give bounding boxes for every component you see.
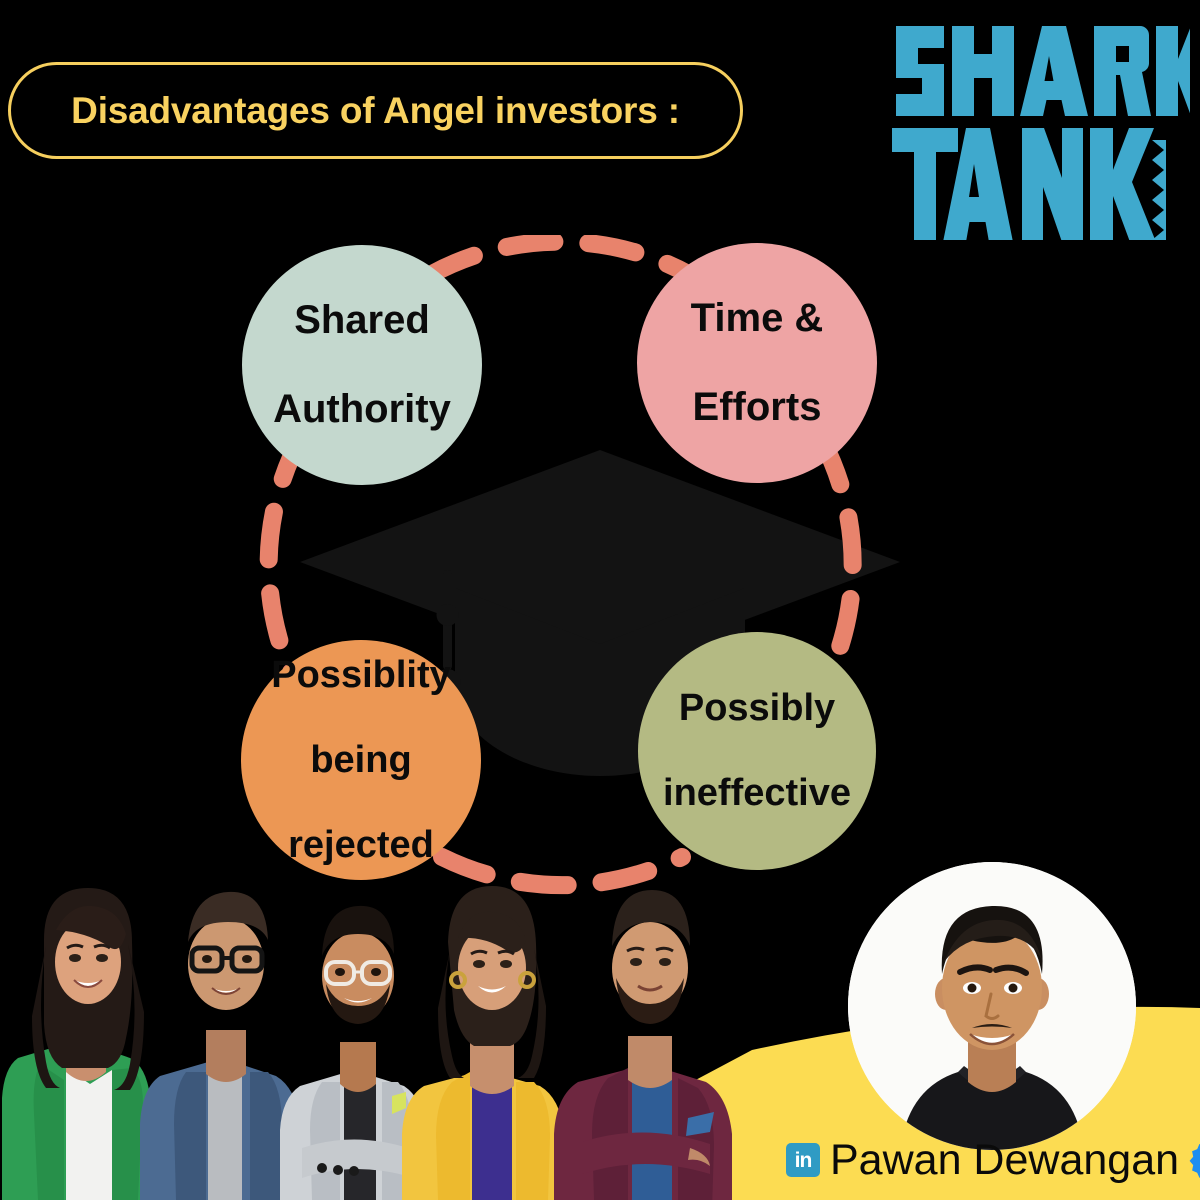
linkedin-mark: in: [795, 1150, 812, 1171]
bubble-line-2: ineffective: [622, 772, 892, 815]
author-profile-photo: [848, 862, 1136, 1150]
page-title: Disadvantages of Angel investors :: [71, 90, 680, 132]
bubble-line-2: Authority: [227, 387, 497, 432]
author-credit[interactable]: in Pawan Dewangan: [786, 1134, 1200, 1186]
bubble-possiblity-being-rejected[interactable]: Possiblitybeingrejected: [241, 640, 481, 880]
shark-tank-logo: [890, 8, 1190, 240]
bubble-time-efforts[interactable]: Time &Efforts: [637, 243, 877, 483]
title-pill: Disadvantages of Angel investors :: [8, 62, 743, 159]
shark-tank-judges-illustration: [0, 880, 800, 1200]
bubble-shared-authority[interactable]: SharedAuthority: [242, 245, 482, 485]
linkedin-icon[interactable]: in: [786, 1143, 820, 1177]
bubble-line-2: Efforts: [622, 385, 892, 430]
poster-canvas: Disadvantages of Angel investors :: [0, 0, 1200, 1200]
bubble-line-1: Time &: [622, 296, 892, 341]
bubble-line-1: Possibly: [622, 687, 892, 730]
bubble-label: Possiblitybeingrejected: [226, 654, 496, 867]
bubble-label: SharedAuthority: [227, 298, 497, 432]
verified-check-icon: [1189, 1140, 1200, 1180]
author-name: Pawan Dewangan: [830, 1136, 1179, 1185]
bubble-label: Possiblyineffective: [622, 687, 892, 815]
bubble-line-2: being: [226, 739, 496, 782]
bubble-line-1: Shared: [227, 298, 497, 343]
bubble-possibly-ineffective[interactable]: Possiblyineffective: [638, 632, 876, 870]
bubble-label: Time &Efforts: [622, 296, 892, 430]
bubble-line-3: rejected: [226, 824, 496, 867]
bubble-line-1: Possiblity: [226, 654, 496, 697]
